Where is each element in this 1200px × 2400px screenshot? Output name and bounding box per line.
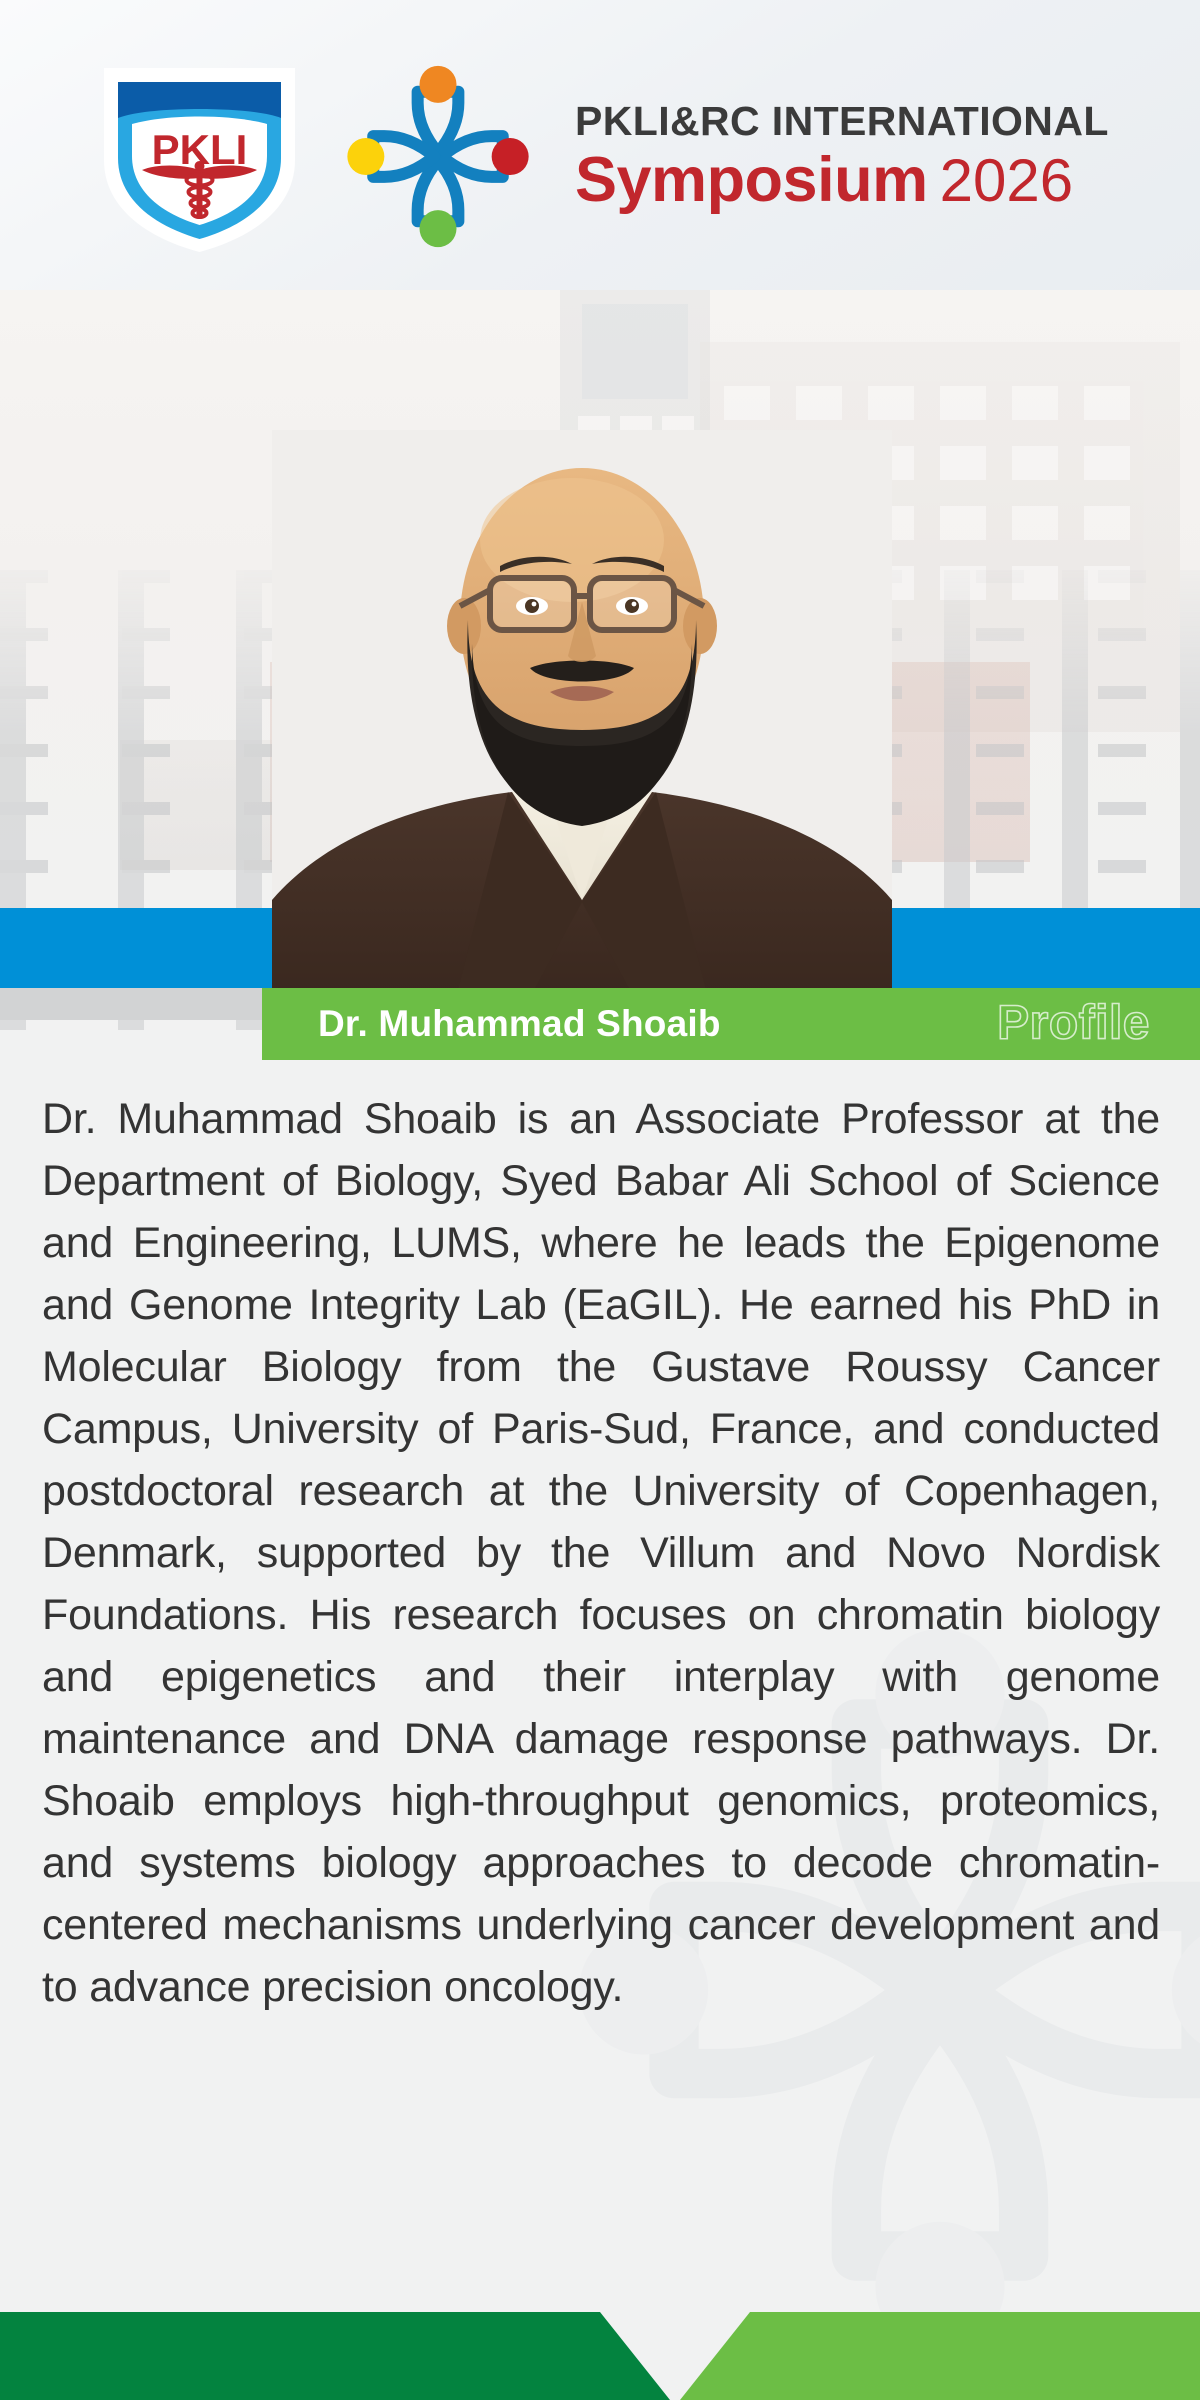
flower-top-dot-icon [420,65,457,102]
pkli-shield-logo-icon: PKLI [92,52,307,257]
profile-watermark-label: Profile [997,995,1150,1050]
event-title-symposium: Symposium [575,145,928,215]
speaker-profile-poster: PKLI [0,0,1200,2400]
footer-bands [0,2288,1200,2400]
event-title-year: 2026 [940,147,1073,214]
event-subtitle: PKLI&RC INTERNATIONAL [575,100,1109,143]
speaker-name: Dr. Muhammad Shoaib [318,1003,721,1045]
poster-header: PKLI [0,0,1200,290]
footer-left-band [0,2312,670,2400]
speaker-photo [272,430,892,995]
footer-right-band [680,2312,1200,2400]
header-title-block: PKLI&RC INTERNATIONAL Symposium2026 [575,100,1109,213]
speaker-name-banner: Dr. Muhammad Shoaib Profile [262,988,1200,1060]
flower-left-dot-icon [347,138,384,175]
flower-right-dot-icon [492,138,529,175]
speaker-bio-text: Dr. Muhammad Shoaib is an Associate Prof… [42,1088,1160,2018]
flower-bottom-dot-icon [420,210,457,247]
event-title-line: Symposium2026 [575,147,1109,213]
symposium-flower-logo-icon [343,64,533,249]
